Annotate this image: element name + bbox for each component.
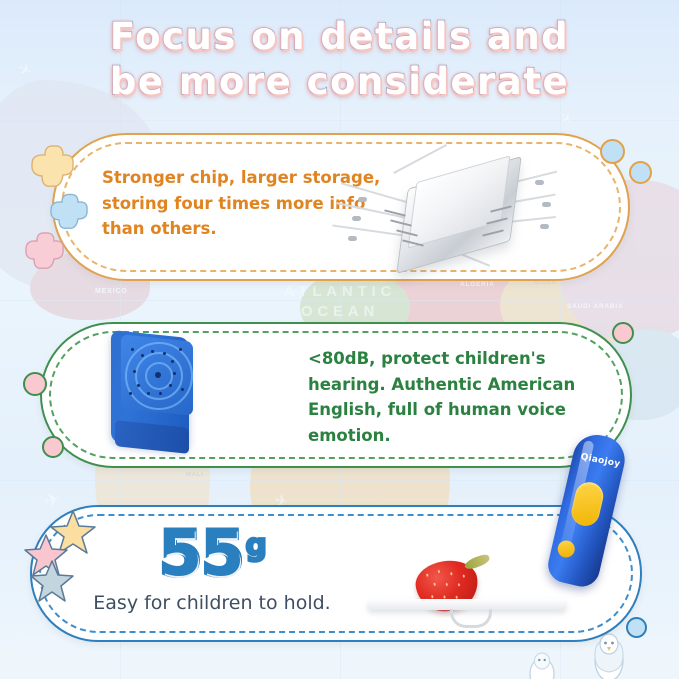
dot-decor-pink <box>42 436 64 458</box>
dot-decor-blue <box>629 161 652 184</box>
infographic-canvas: MEXICO ALGERIA SAUDI ARABIA NIGER MALI A… <box>0 0 679 679</box>
dot-decor-blue <box>600 139 625 164</box>
speaker-hole <box>151 350 154 353</box>
chip-contact-pad <box>535 180 544 185</box>
speaker-hole <box>133 370 136 373</box>
speaker-hole <box>131 348 134 351</box>
flower-decor-yellow <box>28 143 82 195</box>
map-label-saudi-arabia: SAUDI ARABIA <box>567 303 623 310</box>
strawberry-leaf <box>463 553 491 571</box>
headline-line-1: Focus on details and <box>0 14 679 59</box>
dot-decor-blue <box>626 617 647 638</box>
circuit-trace <box>341 182 409 203</box>
weight-value: 55 <box>159 521 243 587</box>
circuit-trace <box>337 202 412 219</box>
speaker-hole <box>155 372 161 378</box>
dot-decor-pink <box>612 322 634 344</box>
weight-caption: Easy for children to hold. <box>82 592 342 614</box>
scale-stand <box>450 609 492 628</box>
speaker-hole <box>159 392 162 395</box>
headline-line-2: be more considerate <box>0 59 679 104</box>
microchip-illustration <box>330 150 560 275</box>
speaker-hole <box>173 372 176 375</box>
speaker-hole <box>163 352 166 355</box>
chip-contact-pad <box>348 236 357 241</box>
map-label-mali: MALI <box>186 472 204 478</box>
dot-decor-pink <box>23 372 47 396</box>
speaker-hole <box>147 392 150 395</box>
speaker-hole <box>171 360 174 363</box>
speaker-hole <box>141 354 144 357</box>
weight-unit: g <box>245 528 266 563</box>
headline: Focus on details and be more considerate <box>0 14 679 104</box>
airplane-icon: ✈ <box>556 108 576 129</box>
penguin-illustration <box>524 648 560 679</box>
chip-contact-pad <box>352 216 361 221</box>
map-label-algeria: ALGERIA <box>460 281 495 288</box>
speaker-hole <box>169 384 172 387</box>
speaker-illustration <box>103 330 223 455</box>
weight-display: 55g Easy for children to hold. <box>82 521 342 614</box>
speaker-hole <box>181 388 184 391</box>
speaker-hole <box>129 392 132 395</box>
chip-contact-pad <box>358 197 367 202</box>
chip-contact-pad <box>540 224 549 229</box>
map-label-mexico: MEXICO <box>95 288 128 295</box>
speaker-hole <box>137 384 140 387</box>
star-decor-blue <box>28 558 76 604</box>
flower-decor-pink <box>22 230 70 276</box>
chip-contact-pad <box>542 202 551 207</box>
speaker-hole <box>179 348 182 351</box>
